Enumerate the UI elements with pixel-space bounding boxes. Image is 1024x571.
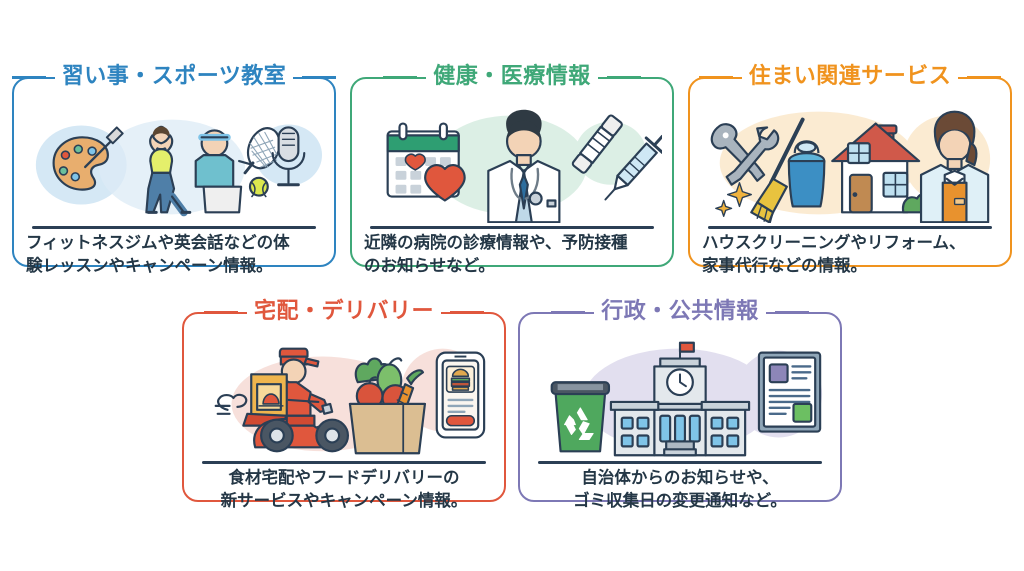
card-lessons-description: フィットネスジムや英会話などの体 験レッスンやキャンペーン情報。: [26, 231, 322, 278]
desc-line-2: 新サービスやキャンペーン情報。: [196, 489, 492, 512]
desc-line-2: 家事代行などの情報。: [702, 254, 998, 277]
recycle-bin-icon: [552, 382, 609, 451]
art-public: [530, 338, 830, 458]
title-dash-left-icon: [204, 311, 238, 314]
ground-line: [538, 461, 822, 464]
card-home-title: 住まい関連サービス: [742, 64, 959, 90]
smartphone-burger-icon: [437, 353, 484, 438]
art-delivery: [194, 338, 494, 458]
grocery-bag-icon: [350, 358, 425, 453]
title-dash-right-icon: [450, 311, 484, 314]
card-health-title: 健康・医療情報: [426, 64, 598, 90]
desc-line-1: 食材宅配やフードデリバリーの: [196, 466, 492, 489]
card-public[interactable]: 行政・公共情報: [518, 312, 842, 502]
desc-line-2: ゴミ収集日の変更通知など。: [532, 489, 828, 512]
art-health: [362, 103, 662, 223]
card-public-title: 行政・公共情報: [594, 299, 766, 325]
desc-line-1: 近隣の病院の診療情報や、予防接種: [364, 231, 660, 254]
desc-line-1: フィットネスジムや英会話などの体: [26, 231, 322, 254]
ground-line: [202, 461, 486, 464]
card-lessons[interactable]: 習い事・スポーツ教室: [12, 77, 336, 267]
title-dash-right-icon: [967, 76, 1001, 79]
card-health[interactable]: 健康・医療情報: [350, 77, 674, 267]
desc-line-1: ハウスクリーニングやリフォーム、: [702, 231, 998, 254]
title-dash-right-icon: [607, 76, 641, 79]
ground-line: [370, 226, 654, 229]
title-dash-left-icon: [383, 76, 417, 79]
card-home[interactable]: 住まい関連サービス: [688, 77, 1012, 267]
card-lessons-title: 習い事・スポーツ教室: [55, 64, 294, 90]
title-dash-left-icon: [699, 76, 733, 79]
card-public-description: 自治体からのお知らせや、 ゴミ収集日の変更通知など。: [532, 466, 828, 513]
infographic-canvas: 習い事・スポーツ教室: [0, 0, 1024, 571]
burger-icon: [452, 369, 470, 390]
desc-line-2: のお知らせなど。: [364, 254, 660, 277]
card-delivery-title-bar: 宅配・デリバリー: [184, 299, 504, 325]
title-dash-left-icon: [551, 311, 585, 314]
document-icon: [759, 353, 820, 432]
art-lessons: [24, 103, 324, 223]
card-lessons-title-bar: 習い事・スポーツ教室: [14, 64, 334, 90]
card-home-description: ハウスクリーニングやリフォーム、 家事代行などの情報。: [702, 231, 998, 278]
bucket-icon: [789, 141, 825, 206]
art-home: [700, 103, 1000, 223]
card-delivery-description: 食材宅配やフードデリバリーの 新サービスやキャンペーン情報。: [196, 466, 492, 513]
ground-line: [32, 226, 316, 229]
title-dash-left-icon: [12, 76, 46, 79]
card-public-title-bar: 行政・公共情報: [520, 299, 840, 325]
title-dash-right-icon: [775, 311, 809, 314]
desc-line-2: 験レッスンやキャンペーン情報。: [26, 254, 322, 277]
card-health-description: 近隣の病院の診療情報や、予防接種 のお知らせなど。: [364, 231, 660, 278]
card-delivery-title: 宅配・デリバリー: [247, 299, 441, 325]
card-home-title-bar: 住まい関連サービス: [690, 64, 1010, 90]
card-delivery[interactable]: 宅配・デリバリー: [182, 312, 506, 502]
desc-line-1: 自治体からのお知らせや、: [532, 466, 828, 489]
ground-line: [708, 226, 992, 229]
title-dash-right-icon: [302, 76, 336, 79]
card-health-title-bar: 健康・医療情報: [352, 64, 672, 90]
